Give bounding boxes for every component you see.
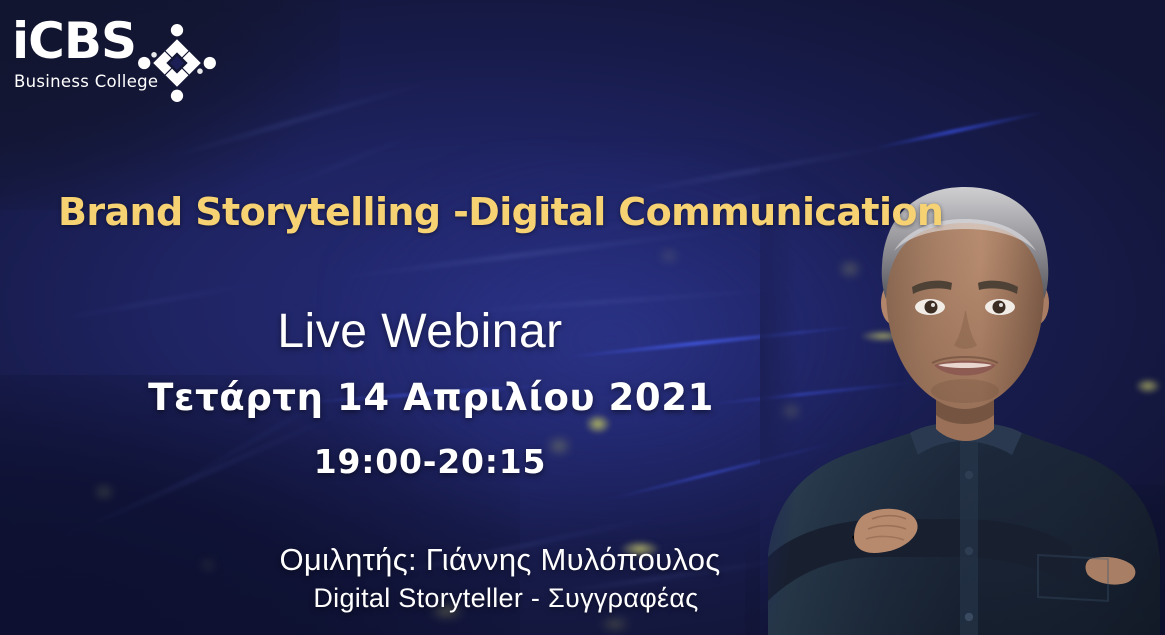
shirt-button-1: [965, 471, 973, 479]
iris-right: [993, 301, 1006, 314]
webinar-banner: iCBS Business College: [0, 0, 1165, 635]
mark-dot-top: [171, 24, 183, 36]
eye-glint-left: [931, 303, 935, 307]
mark-figure-bottom: [166, 69, 189, 87]
mark-accent-dot-2: [197, 68, 203, 74]
logo-wordmark: iCBS: [12, 16, 136, 66]
iris-left: [925, 301, 938, 314]
speaker-name: Ομιλητής: Γιάννης Μυλόπουλος: [0, 542, 1000, 578]
speaker-role: Digital Storyteller - Συγγραφέας: [0, 583, 1012, 614]
chin-shadow: [931, 379, 999, 403]
event-time: 19:00-20:15: [0, 442, 860, 481]
mark-figure-top: [166, 39, 189, 57]
icbs-logo[interactable]: iCBS Business College: [8, 10, 223, 100]
bokeh-orb-11: [600, 618, 630, 630]
shirt-button-3: [965, 613, 973, 621]
webinar-title: Brand Storytelling -Digital Communicatio…: [58, 190, 943, 234]
icbs-diamond-people-mark: [136, 22, 218, 104]
mark-dot-bottom: [171, 90, 183, 102]
mark-dot-left: [138, 57, 150, 69]
bokeh-orb-9: [660, 250, 678, 262]
eye-glint-right: [999, 303, 1003, 307]
mark-center-void: [170, 56, 184, 70]
event-date: Τετάρτη 14 Απριλίου 2021: [0, 376, 862, 419]
mark-dot-right: [204, 57, 216, 69]
event-type-label: Live Webinar: [0, 304, 840, 359]
mark-accent-dot-1: [151, 52, 157, 58]
bokeh-orb-8: [95, 486, 113, 498]
